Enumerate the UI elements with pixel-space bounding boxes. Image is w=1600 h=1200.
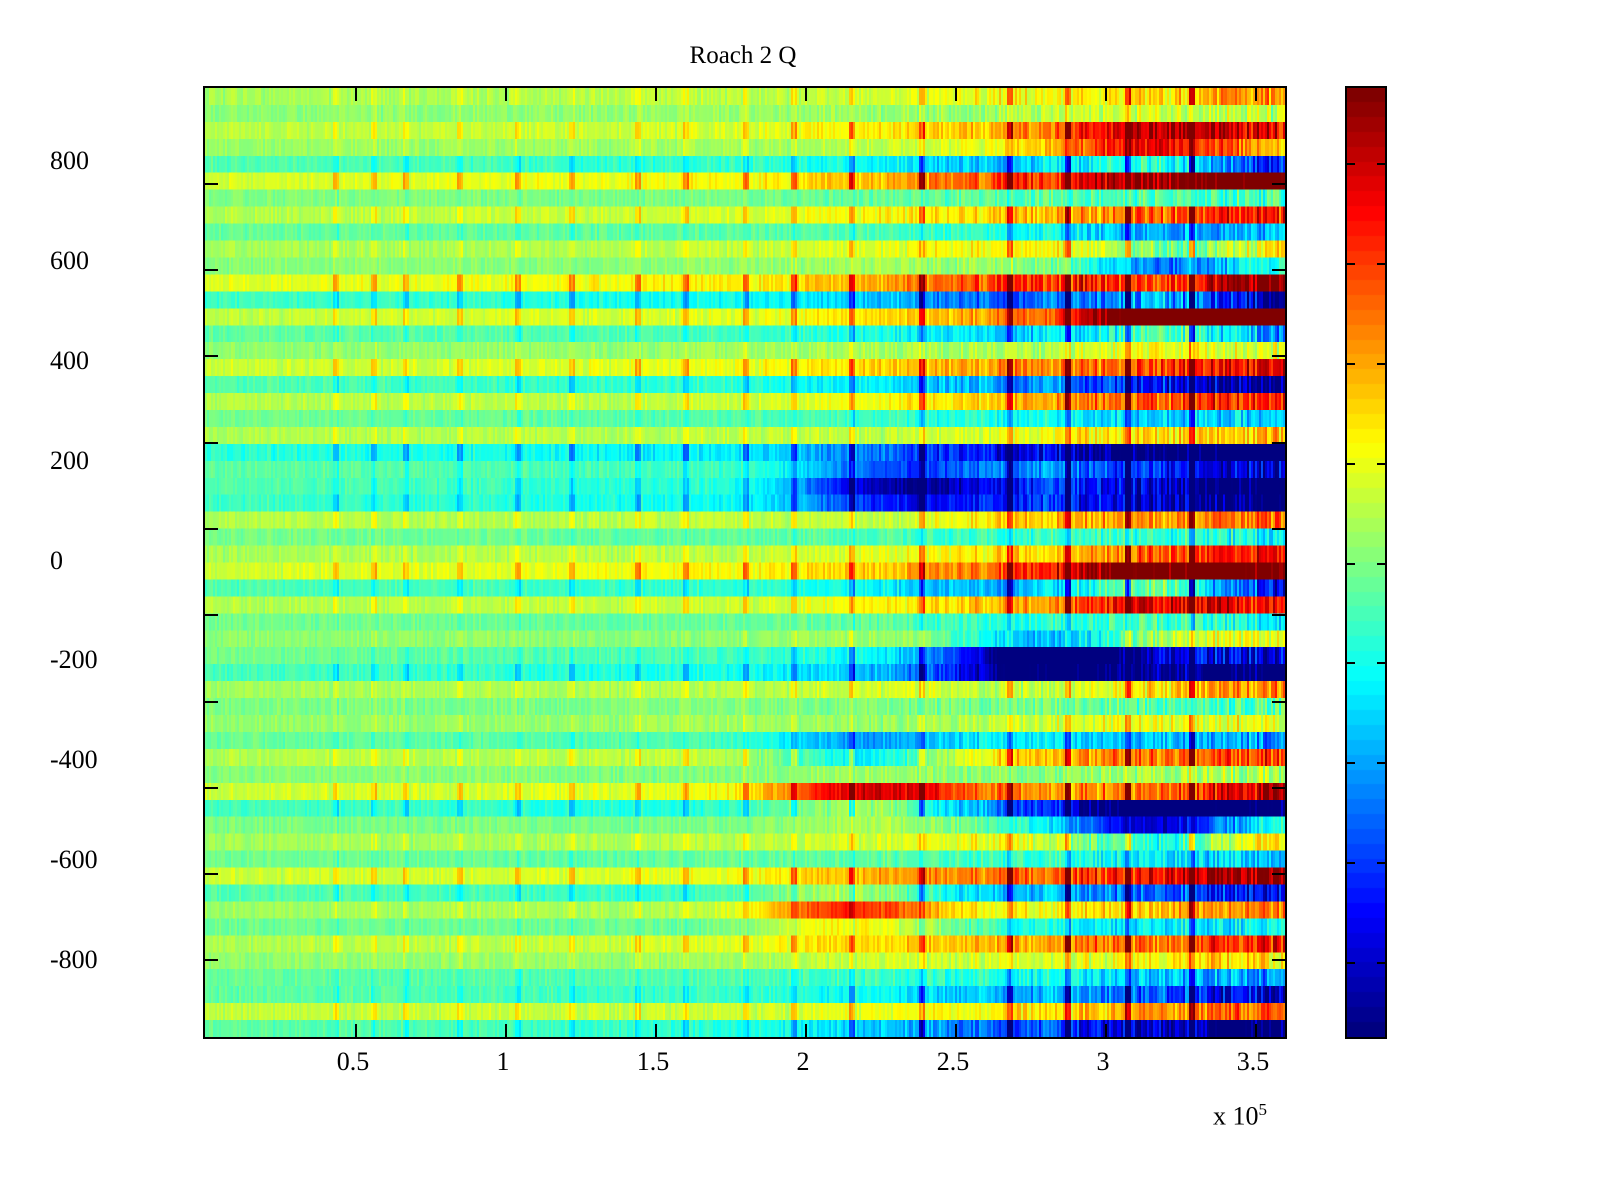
y-tick-mark-right xyxy=(1272,614,1285,616)
x-tick-mark xyxy=(1255,1024,1257,1037)
y-tick-mark-right xyxy=(1272,355,1285,357)
colorbar-tick-label: -400 xyxy=(50,745,98,775)
colorbar-tick-mark xyxy=(1347,463,1355,465)
y-tick-mark xyxy=(205,614,218,616)
colorbar-tick-mark xyxy=(1347,263,1355,265)
y-tick-mark-right xyxy=(1272,873,1285,875)
x-axis-exponent-label: x 105 xyxy=(1213,1100,1267,1132)
y-tick-mark-right xyxy=(1272,183,1285,185)
colorbar-tick-mark xyxy=(1347,862,1355,864)
y-tick-mark xyxy=(205,873,218,875)
heatmap-axes[interactable] xyxy=(203,86,1287,1039)
colorbar-tick-mark xyxy=(1347,363,1355,365)
y-tick-mark-right xyxy=(1272,959,1285,961)
chart-title: Roach 2 Q xyxy=(203,42,1283,70)
colorbar-tick-mark xyxy=(1347,962,1355,964)
colorbar[interactable] xyxy=(1345,86,1387,1039)
colorbar-tick-mark-right xyxy=(1377,962,1385,964)
colorbar-tick-label: -800 xyxy=(50,945,98,975)
x-tick-mark xyxy=(1105,1024,1107,1037)
colorbar-tick-label: -600 xyxy=(50,845,98,875)
colorbar-tick-label: 800 xyxy=(50,146,89,176)
x-tick-mark-top xyxy=(805,88,807,101)
x-tick-mark-top xyxy=(355,88,357,101)
colorbar-tick-label: -200 xyxy=(50,645,98,675)
x-tick-label: 1.5 xyxy=(637,1047,670,1077)
y-tick-mark-right xyxy=(1272,269,1285,271)
x-axis-exponent-power: 5 xyxy=(1259,1100,1268,1119)
colorbar-tick-mark-right xyxy=(1377,463,1385,465)
colorbar-tick-mark-right xyxy=(1377,163,1385,165)
y-tick-mark-right xyxy=(1272,528,1285,530)
x-tick-label: 1 xyxy=(497,1047,510,1077)
y-tick-mark xyxy=(205,269,218,271)
y-tick-mark xyxy=(205,959,218,961)
colorbar-tick-mark-right xyxy=(1377,263,1385,265)
x-tick-label: 2 xyxy=(797,1047,810,1077)
x-tick-mark xyxy=(655,1024,657,1037)
colorbar-tick-mark-right xyxy=(1377,662,1385,664)
x-tick-label: 3 xyxy=(1097,1047,1110,1077)
matlab-figure-window: Roach 2 Q 5101520253035404550 0.511.522.… xyxy=(0,0,1600,1200)
colorbar-tick-mark-right xyxy=(1377,762,1385,764)
x-tick-mark-top xyxy=(1255,88,1257,101)
colorbar-tick-mark-right xyxy=(1377,563,1385,565)
x-tick-mark xyxy=(505,1024,507,1037)
colorbar-tick-mark-right xyxy=(1377,862,1385,864)
colorbar-tick-label: 0 xyxy=(50,546,63,576)
y-tick-mark xyxy=(205,355,218,357)
y-tick-mark xyxy=(205,528,218,530)
x-tick-label: 3.5 xyxy=(1237,1047,1270,1077)
y-tick-mark xyxy=(205,787,218,789)
colorbar-tick-label: 400 xyxy=(50,346,89,376)
colorbar-tick-mark xyxy=(1347,563,1355,565)
y-tick-mark-right xyxy=(1272,701,1285,703)
colorbar-tick-label: 600 xyxy=(50,246,89,276)
colorbar-tick-mark-right xyxy=(1377,363,1385,365)
x-tick-mark-top xyxy=(505,88,507,101)
y-tick-mark-right xyxy=(1272,442,1285,444)
x-tick-label: 2.5 xyxy=(937,1047,970,1077)
colorbar-tick-label: 200 xyxy=(50,446,89,476)
heatmap-image[interactable] xyxy=(205,88,1285,1037)
x-tick-mark-top xyxy=(1105,88,1107,101)
x-tick-mark xyxy=(955,1024,957,1037)
x-tick-mark-top xyxy=(655,88,657,101)
colorbar-tick-mark xyxy=(1347,662,1355,664)
y-tick-mark xyxy=(205,183,218,185)
x-tick-mark xyxy=(355,1024,357,1037)
y-tick-mark xyxy=(205,701,218,703)
y-tick-mark xyxy=(205,442,218,444)
colorbar-tick-mark xyxy=(1347,762,1355,764)
x-axis-exponent-base: x 10 xyxy=(1213,1102,1259,1131)
colorbar-tick-mark xyxy=(1347,163,1355,165)
y-tick-mark-right xyxy=(1272,787,1285,789)
x-tick-label: 0.5 xyxy=(337,1047,370,1077)
x-tick-mark-top xyxy=(955,88,957,101)
x-tick-mark xyxy=(805,1024,807,1037)
